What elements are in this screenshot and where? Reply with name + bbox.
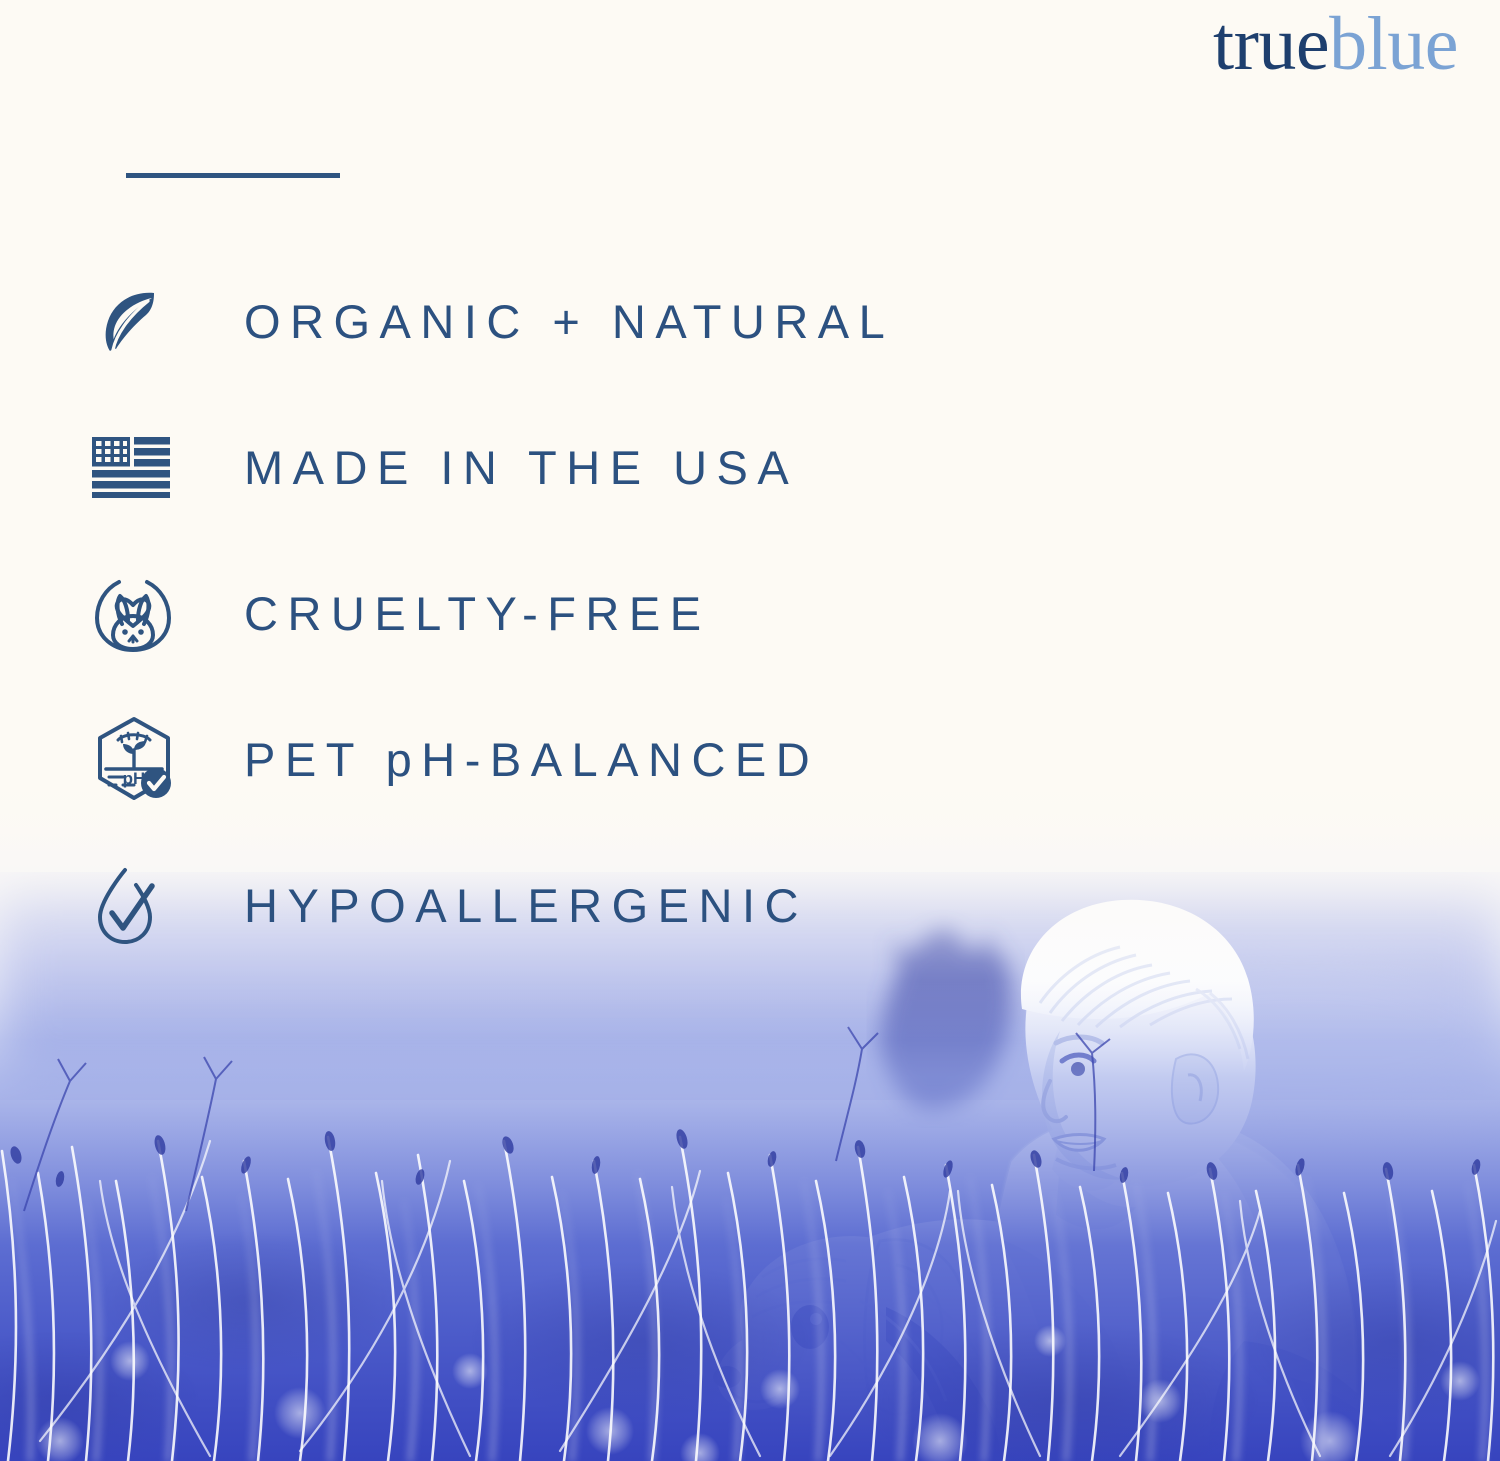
benefit-label: PET pH-BALANCED — [244, 732, 819, 787]
logo-word-true: true — [1213, 2, 1329, 86]
ph-badge-icon: pH — [92, 711, 188, 807]
brand-logo: trueblue — [1213, 6, 1458, 82]
leaf-icon — [92, 273, 188, 369]
benefit-row-pet-ph-balanced: pH PET pH-BALANCED — [92, 686, 1092, 832]
benefit-label: HYPOALLERGENIC — [244, 878, 808, 933]
logo-word-blue: blue — [1329, 2, 1458, 86]
benefit-row-made-in-usa: MADE IN THE USA — [92, 394, 1092, 540]
product-benefits-banner: trueblue ORGANIC + NATURAL — [0, 0, 1500, 1461]
benefit-label: MADE IN THE USA — [244, 440, 798, 495]
water-drop-check-icon — [92, 857, 188, 953]
benefits-list: ORGANIC + NATURAL — [92, 248, 1092, 978]
benefit-label: CRUELTY-FREE — [244, 586, 711, 641]
benefit-row-organic-natural: ORGANIC + NATURAL — [92, 248, 1092, 394]
section-divider-rule — [126, 173, 340, 178]
benefit-label: ORGANIC + NATURAL — [244, 294, 894, 349]
usa-flag-icon — [92, 419, 188, 515]
benefit-row-hypoallergenic: HYPOALLERGENIC — [92, 832, 1092, 978]
benefit-row-cruelty-free: CRUELTY-FREE — [92, 540, 1092, 686]
rabbit-heart-icon — [92, 565, 188, 661]
